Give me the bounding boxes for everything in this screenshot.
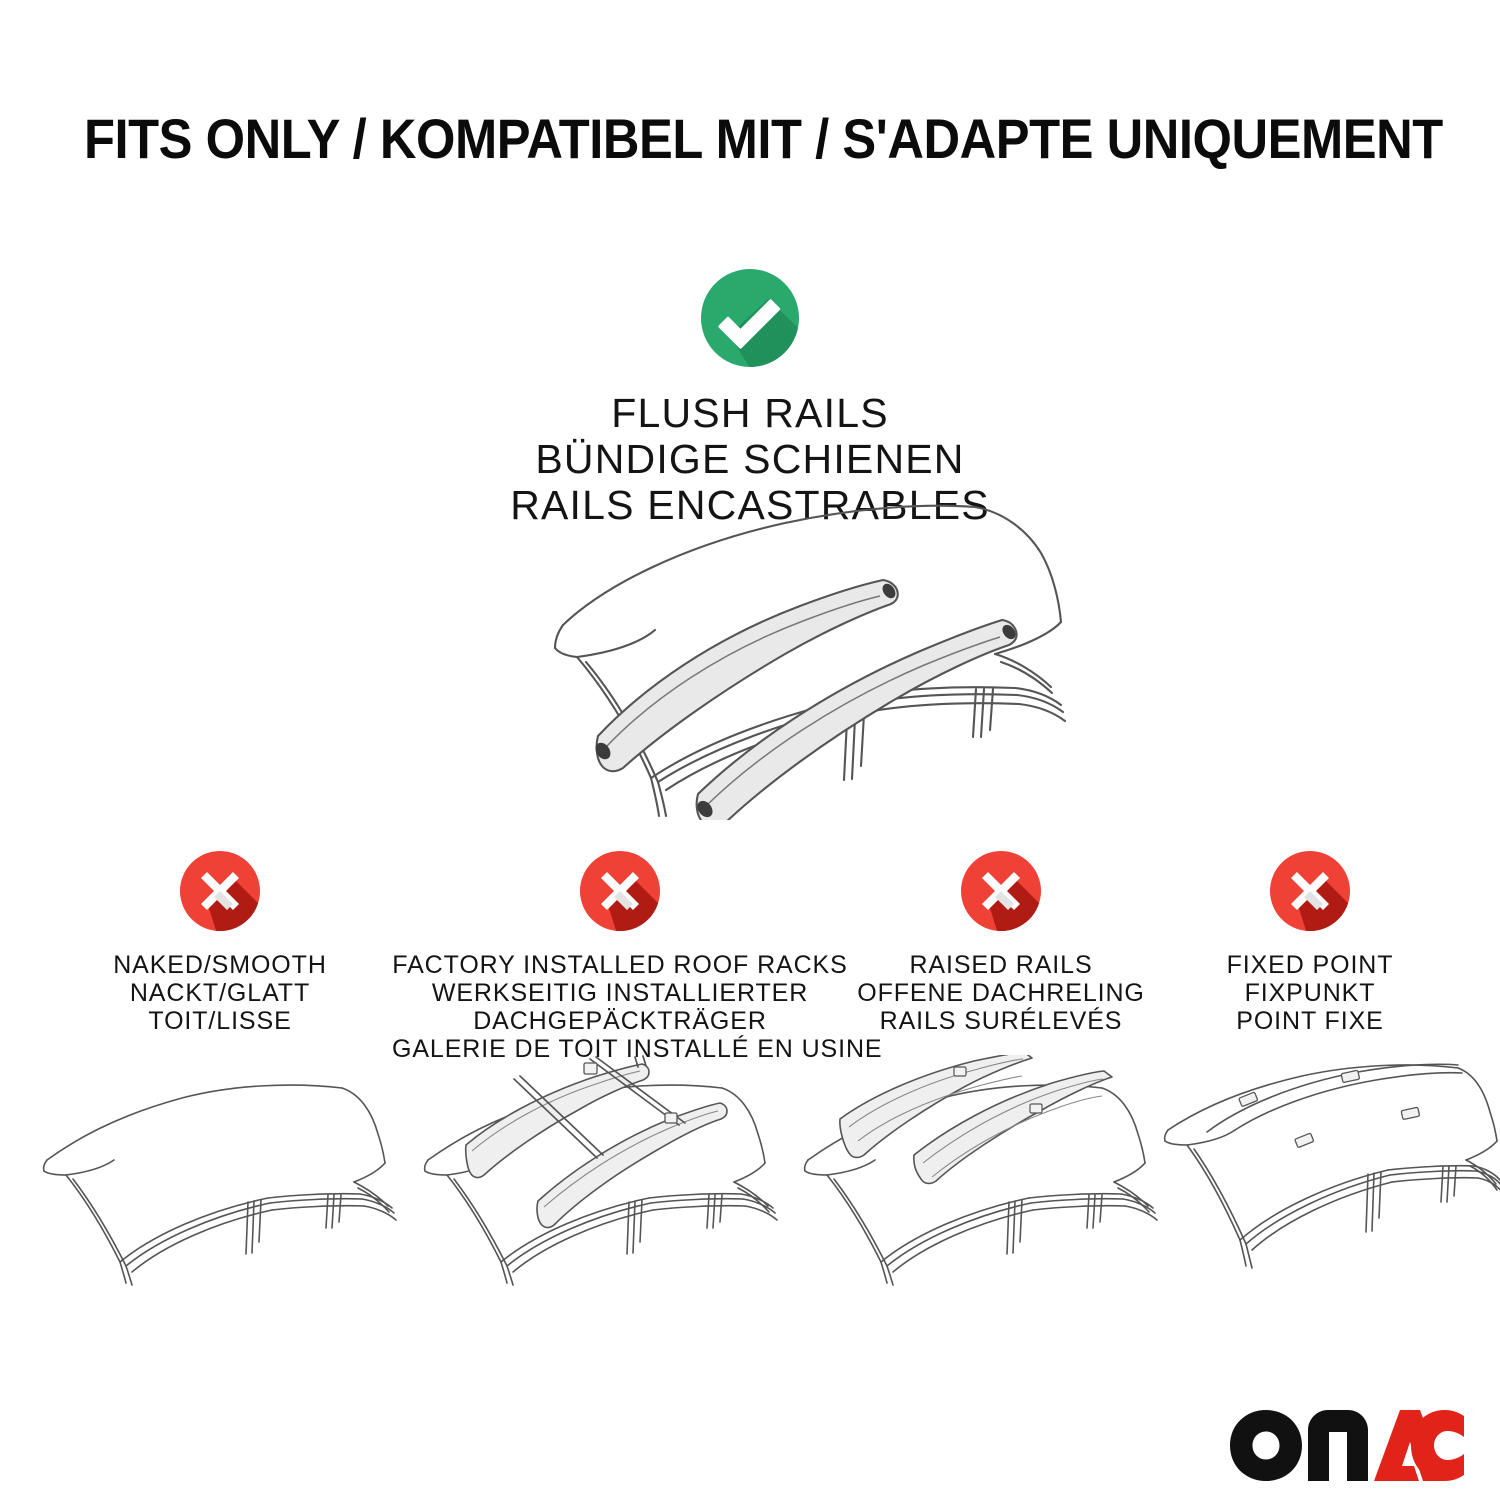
cross-circle-icon [955,845,1047,937]
excluded-item-factory-racks: FACTORY INSTALLED ROOF RACKS WERKSEITIG … [392,845,848,1063]
logo-letter-o [1230,1410,1302,1481]
check-circle-icon [694,262,806,374]
car-roof-flush-rails-illustration [455,490,1075,820]
logo-letter-m [1308,1410,1368,1481]
fitment-infographic-page: FITS ONLY / KOMPATIBEL MIT / S'ADAPTE UN… [0,0,1500,1500]
compatible-label-de: BÜNDIGE SCHIENEN [0,436,1500,482]
excluded-item-raised-rails: RAISED RAILS OFFENE DACHRELING RAILS SUR… [842,845,1160,1035]
excluded-labels: RAISED RAILS OFFENE DACHRELING RAILS SUR… [842,951,1160,1035]
excluded-label-de: OFFENE DACHRELING [842,979,1160,1007]
excluded-item-fixed-point: FIXED POINT FIXPUNKT POINT FIXE [1175,845,1445,1035]
excluded-label-de: FIXPUNKT [1175,979,1445,1007]
car-roof-naked-illustration [42,1062,422,1287]
excluded-label-fr: TOIT/LISSE [50,1007,390,1035]
page-title: FITS ONLY / KOMPATIBEL MIT / S'ADAPTE UN… [84,108,1297,170]
excluded-label-fr: RAILS SURÉLEVÉS [842,1007,1160,1035]
excluded-label-en: RAISED RAILS [842,951,1160,979]
excluded-item-naked: NAKED/SMOOTH NACKT/GLATT TOIT/LISSE [50,845,390,1035]
compatible-label-en: FLUSH RAILS [0,390,1500,436]
excluded-label-de-2: DACHGEPÄCKTRÄGER [392,1007,848,1035]
excluded-labels: FACTORY INSTALLED ROOF RACKS WERKSEITIG … [392,951,848,1063]
compatible-section: FLUSH RAILS BÜNDIGE SCHIENEN RAILS ENCAS… [0,262,1500,528]
excluded-labels: FIXED POINT FIXPUNKT POINT FIXE [1175,951,1445,1035]
cross-circle-icon [574,845,666,937]
excluded-label-de-1: WERKSEITIG INSTALLIERTER [392,979,848,1007]
excluded-label-en: FIXED POINT [1175,951,1445,979]
car-roof-raised-rails-illustration [802,1055,1182,1287]
excluded-label-de: NACKT/GLATT [50,979,390,1007]
car-roof-fixed-point-illustration [1162,1060,1500,1288]
excluded-labels: NAKED/SMOOTH NACKT/GLATT TOIT/LISSE [50,951,390,1035]
excluded-label-en: NAKED/SMOOTH [50,951,390,979]
cross-circle-icon [1264,845,1356,937]
car-roof-factory-racks-illustration [422,1055,802,1287]
excluded-label-fr: POINT FIXE [1175,1007,1445,1035]
cross-circle-icon [174,845,266,937]
excluded-label-en: FACTORY INSTALLED ROOF RACKS [392,951,848,979]
omac-logo [1228,1408,1468,1484]
